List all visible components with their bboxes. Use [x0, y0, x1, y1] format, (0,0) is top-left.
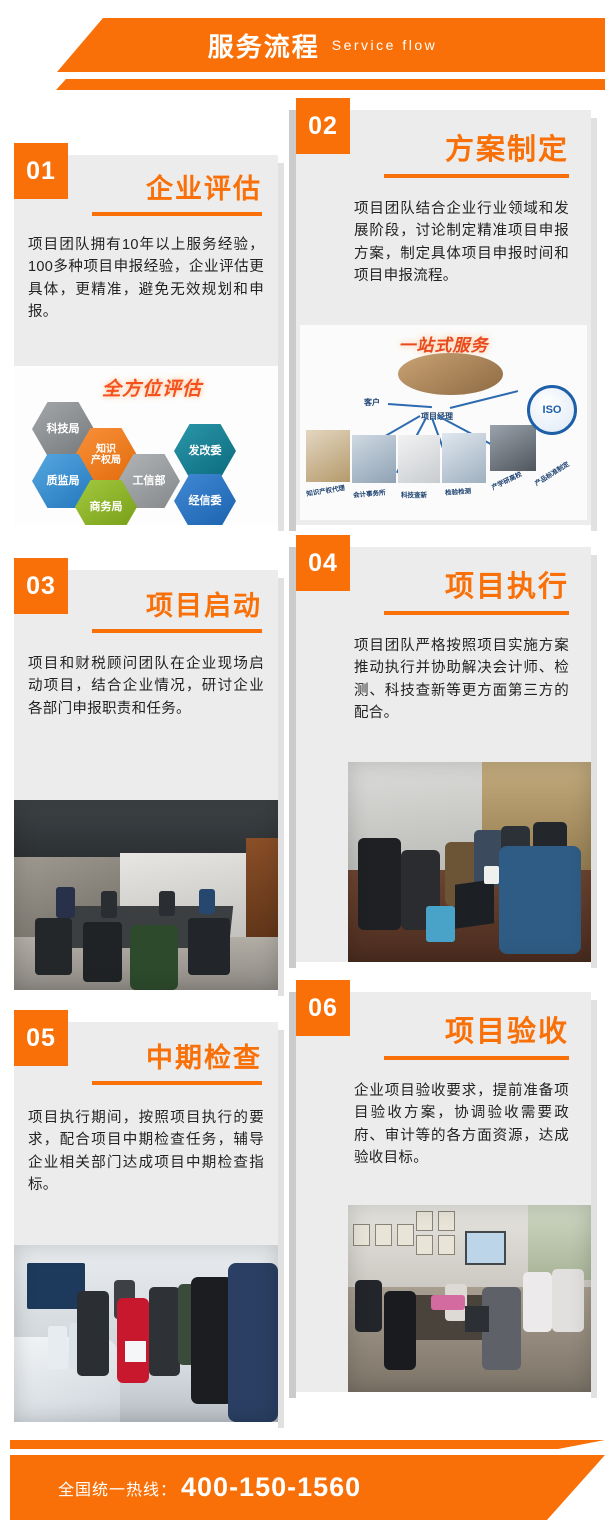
photo-conference-room-meeting [14, 800, 278, 990]
step-number-badge: 04 [296, 535, 350, 591]
hotline-group: 全国统一热线： 400-150-1560 [58, 1455, 361, 1520]
card-body-text: 项目团队拥有10年以上服务经验，100多种项目申报经验，企业评估更具体，更精准，… [14, 234, 278, 324]
os-branch-label-3: 科技查新 [401, 489, 427, 499]
os-branch-label-2: 会计事务所 [353, 487, 386, 500]
photo-large-meeting-room [348, 1205, 591, 1392]
hexagon-diagram-title: 全方位评估 [102, 374, 202, 401]
hex-node-fagaiwei: 发改委 [174, 424, 236, 478]
os-label-customer: 客户 [364, 397, 380, 408]
title-underline [384, 174, 569, 178]
os-branch-label-4: 检验检测 [445, 485, 472, 497]
os-branch-label-1: 知识产权代理 [305, 482, 345, 498]
os-photo-3 [398, 435, 440, 483]
card-body-text: 企业项目验收要求，提前准备项目验收方案，协调验收需要政府、审计等的各方面资源，达… [296, 1080, 591, 1170]
title-underline [92, 212, 262, 216]
os-photo-2 [352, 435, 396, 483]
step-number-badge: 05 [14, 1010, 68, 1066]
hex-node-jingxinwei: 经信委 [174, 474, 236, 525]
hexagon-diagram: 全方位评估 科技局 知识 产权局 质监局 工信部 商务局 发改委 经信委 [14, 366, 278, 525]
os-photo-1 [306, 430, 350, 482]
footer-accent-line [10, 1440, 605, 1449]
os-branch-label-6: 产品标准制定 [532, 458, 570, 487]
page-footer: 全国统一热线： 400-150-1560 [0, 1422, 605, 1538]
card-body-text: 项目执行期间，按照项目执行的要求，配合项目中期检查任务，辅导企业相关部门达成项目… [14, 1107, 278, 1197]
card-body-text: 项目团队结合企业行业领域和发展阶段，讨论制定精准项目申报方案，制定具体项目申报时… [296, 198, 591, 288]
iso-badge: ISO [527, 385, 577, 435]
process-card-grid: 01 企业评估 项目团队拥有10年以上服务经验，100多种项目申报经验，企业评估… [0, 0, 605, 1538]
title-underline [92, 1081, 262, 1085]
card-body-text: 项目团队严格按照项目实施方案推动执行并协助解决会计师、检测、科技查新等更方面第三… [296, 635, 591, 725]
card-body-text: 项目和财税顾问团队在企业现场启动项目，结合企业情况，研讨企业各部门申报职责和任务… [14, 653, 278, 720]
os-center-photo [398, 353, 503, 395]
os-photo-4 [442, 433, 486, 483]
title-underline [384, 1056, 569, 1060]
os-branch-label-5: 产学研高校 [489, 468, 523, 491]
hotline-label: 全国统一热线： [58, 1476, 177, 1500]
one-stop-service-diagram: 一站式服务 客户 项目经理 知识产权代理 会计事务所 科技查新 检验检测 产学研… [300, 325, 587, 520]
os-arrow-1 [388, 403, 432, 408]
photo-showroom-visit [14, 1245, 278, 1422]
photo-team-working-laptops [348, 762, 591, 962]
title-underline [92, 629, 262, 633]
step-number-badge: 02 [296, 98, 350, 154]
title-underline [384, 611, 569, 615]
step-number-badge: 06 [296, 980, 350, 1036]
step-number-badge: 03 [14, 558, 68, 614]
hotline-number[interactable]: 400-150-1560 [181, 1472, 361, 1503]
os-photo-5 [490, 425, 536, 471]
step-number-badge: 01 [14, 143, 68, 199]
